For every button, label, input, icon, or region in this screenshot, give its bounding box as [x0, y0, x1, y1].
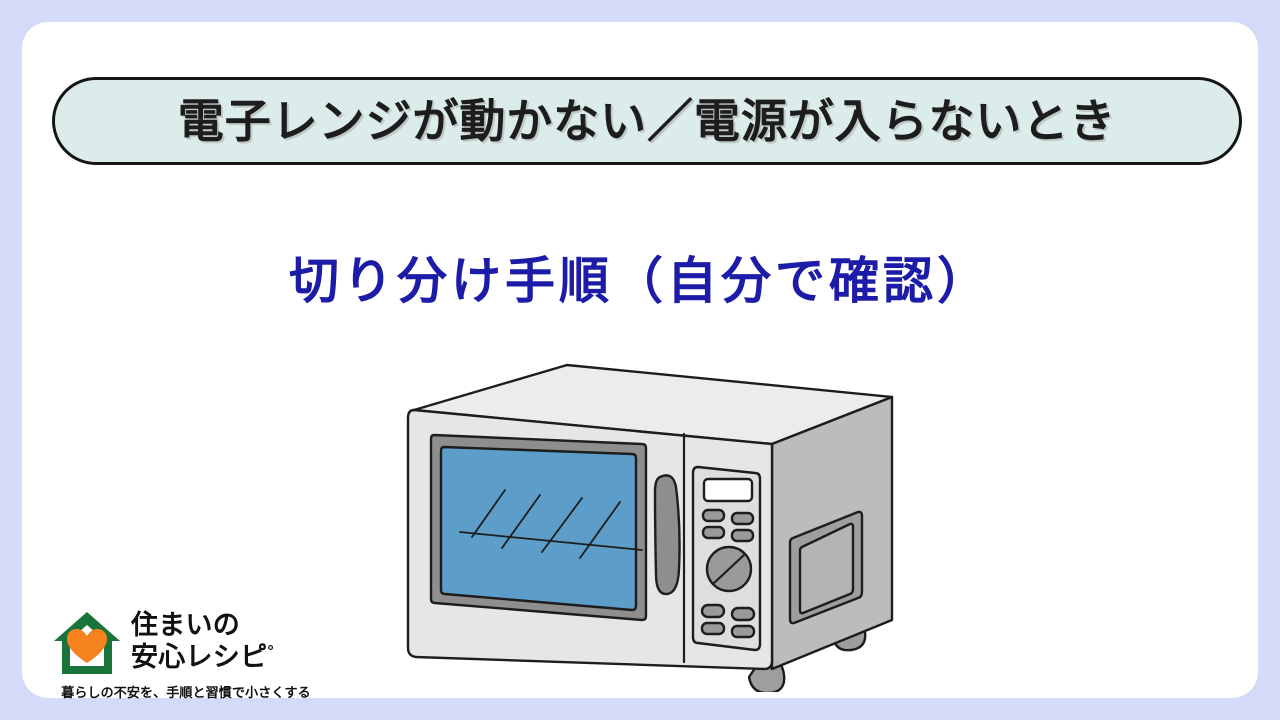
brand-logo-line1: 住まいの [131, 610, 274, 642]
brand-logo-line2-text: 安心レシピ [131, 642, 267, 672]
display-screen [704, 479, 752, 501]
rotary-dial [707, 547, 751, 591]
door-handle [655, 475, 680, 594]
slide-root: 電子レンジが動かない／電源が入らないとき 切り分け手順（自分で確認） [0, 0, 1280, 720]
door-window [441, 447, 636, 610]
section-heading: 切り分け手順（自分で確認） [22, 254, 1258, 309]
brand-logo-wordmark: 住まいの 安心レシピ° [131, 608, 274, 674]
content-card: 電子レンジが動かない／電源が入らないとき 切り分け手順（自分で確認） [22, 22, 1258, 698]
brand-logo-row: 住まいの 安心レシピ° [50, 608, 330, 680]
title-banner-text: 電子レンジが動かない／電源が入らないとき [178, 98, 1116, 144]
house-heart-logo-icon [50, 608, 124, 680]
title-banner: 電子レンジが動かない／電源が入らないとき [52, 77, 1242, 165]
brand-logo: 住まいの 安心レシピ° 暮らしの不安を、手順と習慣で小さくする [50, 608, 330, 704]
microwave-oven-icon [392, 362, 912, 692]
section-heading-text: 切り分け手順（自分で確認） [289, 253, 991, 309]
brand-logo-tagline: 暮らしの不安を、手順と習慣で小さくする [50, 682, 322, 701]
brand-logo-line2: 安心レシピ° [131, 642, 274, 674]
microwave-illustration [392, 362, 912, 692]
heart-icon [67, 629, 107, 663]
brand-logo-degree-mark: ° [267, 643, 274, 660]
